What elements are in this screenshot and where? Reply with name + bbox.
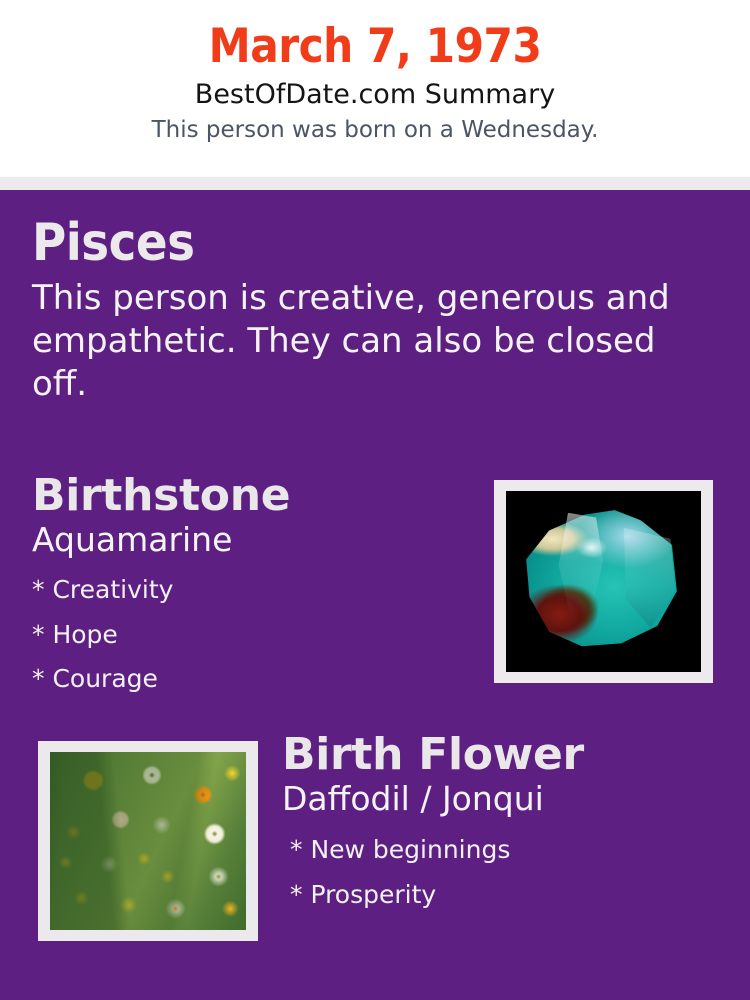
birth-day-of-week-text: This person was born on a Wednesday. — [0, 117, 750, 143]
birthstone-section: Birthstone Aquamarine * Creativity * Hop… — [32, 472, 462, 702]
birth-flower-image — [50, 752, 246, 930]
zodiac-section: Pisces This person is creative, generous… — [32, 216, 712, 407]
birthstone-trait-list: * Creativity * Hope * Courage — [32, 568, 462, 702]
card-header: March 7, 1973 BestOfDate.com Summary Thi… — [0, 0, 750, 177]
list-item: * Creativity — [32, 568, 462, 613]
list-item: * Prosperity — [290, 873, 722, 918]
birthstone-image-frame — [494, 480, 713, 683]
birthstone-image — [506, 491, 701, 672]
birth-flower-image-frame — [38, 741, 258, 941]
content-panel: Pisces This person is creative, generous… — [0, 190, 750, 1000]
header-divider — [0, 177, 750, 190]
summary-card: March 7, 1973 BestOfDate.com Summary Thi… — [0, 0, 750, 1000]
page-title-date: March 7, 1973 — [0, 22, 750, 71]
zodiac-sign-heading: Pisces — [32, 216, 712, 271]
list-item: * New beginnings — [290, 828, 722, 873]
birth-flower-heading: Birth Flower — [282, 731, 722, 779]
list-item: * Courage — [32, 657, 462, 702]
list-item: * Hope — [32, 613, 462, 658]
birth-flower-section: Birth Flower Daffodil / Jonqui * New beg… — [282, 731, 722, 917]
site-name-subtitle: BestOfDate.com Summary — [0, 79, 750, 110]
birthstone-name-text: Aquamarine — [32, 521, 462, 560]
birthstone-heading: Birthstone — [32, 472, 462, 520]
birth-flower-name-text: Daffodil / Jonqui — [282, 780, 722, 819]
birth-flower-trait-list: * New beginnings * Prosperity — [282, 828, 722, 917]
zodiac-description-text: This person is creative, generous and em… — [32, 277, 704, 407]
